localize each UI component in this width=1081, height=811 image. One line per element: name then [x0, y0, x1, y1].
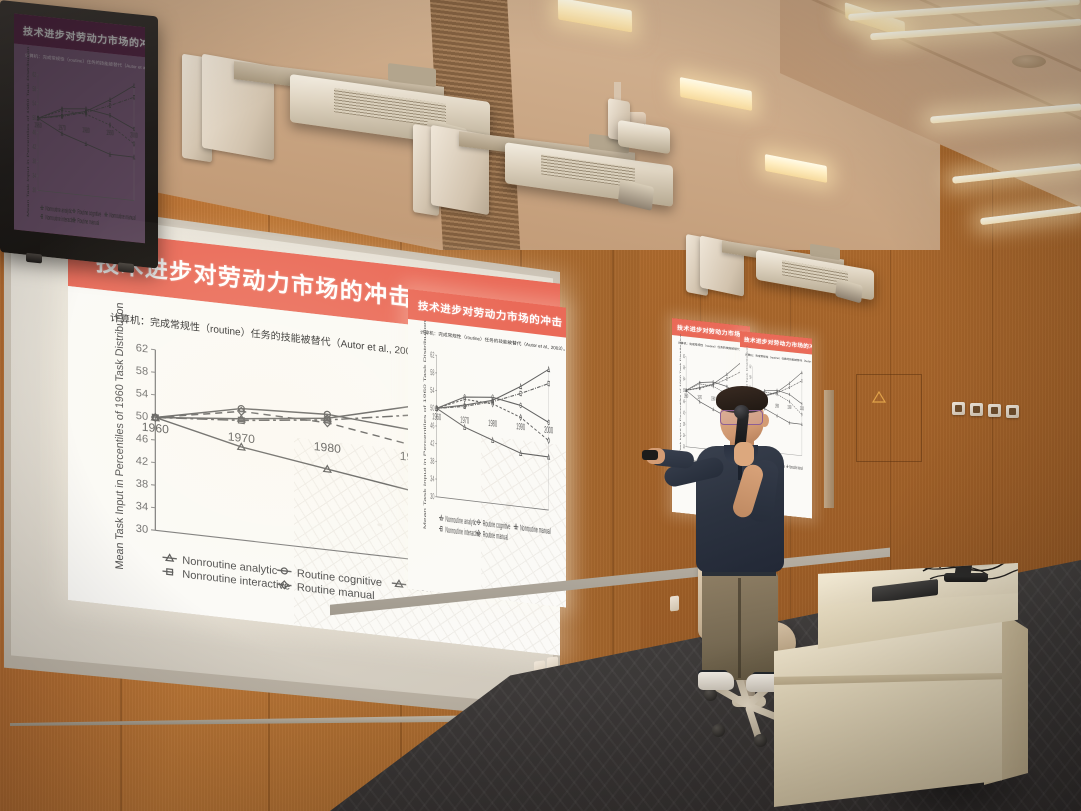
svg-text:30: 30 — [33, 187, 36, 195]
task-input-line-chart: 303438424650545862Mean Task Input in Per… — [22, 64, 142, 237]
slide-body: 计算机：完成常规性（routine）任务的技能被替代（Autor et al.,… — [14, 43, 145, 243]
trouser-seam — [738, 578, 741, 678]
svg-text:1980: 1980 — [82, 127, 90, 136]
svg-text:30: 30 — [136, 523, 148, 536]
svg-text:1960: 1960 — [142, 420, 169, 437]
svg-text:1960: 1960 — [432, 411, 441, 422]
flat-panel-screen[interactable]: 技术进步对劳动力市场的冲击 计算机：完成常规性（routine）任务的技能被替代… — [14, 13, 145, 243]
svg-text:38: 38 — [136, 478, 148, 491]
svg-text:Nonroutine manual: Nonroutine manual — [520, 524, 550, 537]
presenter-shoe — [698, 672, 734, 690]
svg-text:58: 58 — [749, 374, 751, 380]
projector-4 — [686, 228, 886, 328]
flat-panel-slide: 技术进步对劳动力市场的冲击 计算机：完成常规性（routine）任务的技能被替代… — [14, 13, 145, 243]
svg-text:58: 58 — [430, 368, 434, 378]
svg-text:58: 58 — [683, 364, 685, 371]
presenter-right-hand — [734, 442, 754, 466]
smoke-detector — [1012, 55, 1046, 68]
chair-caster — [712, 724, 725, 737]
svg-text:Nonroutine manual: Nonroutine manual — [110, 212, 136, 222]
svg-text:62: 62 — [430, 351, 434, 361]
wall-plate[interactable] — [970, 403, 983, 416]
svg-text:42: 42 — [430, 439, 434, 449]
svg-text:1960: 1960 — [34, 122, 42, 131]
flat-panel-foot — [118, 262, 134, 273]
lecture-room-photo: 技术进步对劳动力市场的冲击 计算机：完成常规性（routine）任务的技能被替代… — [0, 0, 1081, 811]
wall-plate[interactable] — [988, 404, 1001, 417]
svg-text:38: 38 — [430, 457, 434, 467]
svg-text:Mean Task Input in Percentiles: Mean Task Input in Percentiles of 1960 T… — [114, 302, 126, 570]
svg-text:54: 54 — [33, 100, 36, 108]
svg-text:2000: 2000 — [544, 425, 553, 436]
svg-text:1980: 1980 — [488, 418, 497, 429]
projector-3 — [608, 100, 728, 200]
wall-plate[interactable] — [952, 402, 965, 415]
svg-text:42: 42 — [33, 144, 36, 152]
svg-text:30: 30 — [430, 492, 434, 502]
wall-plate[interactable] — [1006, 405, 1019, 418]
svg-text:62: 62 — [683, 352, 685, 359]
svg-text:34: 34 — [136, 500, 148, 513]
presentation-clicker[interactable] — [642, 450, 658, 460]
slide-body: 计算机：完成常规性（routine）任务的技能被替代（Autor et al.,… — [408, 319, 566, 608]
svg-text:1990: 1990 — [516, 421, 525, 432]
svg-text:62: 62 — [136, 342, 148, 355]
projection-screen-2[interactable]: 技术进步对劳动力市场的冲击 计算机：完成常规性（routine）任务的技能被替代… — [408, 289, 566, 608]
svg-text:46: 46 — [33, 129, 36, 137]
svg-text:58: 58 — [33, 86, 36, 94]
svg-text:Routine manual: Routine manual — [78, 218, 100, 228]
microphone-head — [734, 405, 749, 419]
wall-access-panel — [856, 374, 922, 462]
svg-text:Mean Task Input in Percentiles: Mean Task Input in Percentiles of 1960 T… — [423, 320, 427, 530]
flat-panel-foot — [26, 253, 42, 264]
svg-text:62: 62 — [749, 364, 751, 370]
projector-body — [618, 120, 670, 154]
interactive-flat-panel[interactable]: 技术进步对劳动力市场的冲击 计算机：完成常规性（routine）任务的技能被替代… — [0, 0, 158, 269]
ceiling-light — [980, 206, 1081, 225]
svg-text:54: 54 — [683, 375, 685, 382]
svg-text:Nonroutine interactive: Nonroutine interactive — [445, 526, 480, 539]
svg-text:34: 34 — [33, 172, 36, 180]
svg-text:34: 34 — [430, 475, 434, 485]
svg-text:54: 54 — [136, 387, 148, 400]
svg-text:62: 62 — [33, 71, 36, 79]
svg-text:58: 58 — [136, 365, 148, 378]
lectern-lower-body — [774, 617, 1002, 807]
door-frame — [824, 390, 834, 508]
svg-text:1980: 1980 — [314, 439, 341, 456]
svg-text:38: 38 — [33, 158, 36, 166]
svg-text:Routine manual: Routine manual — [483, 530, 508, 542]
svg-text:54: 54 — [430, 386, 434, 396]
task-input-line-chart: 303438424650545862Mean Task Input in Per… — [418, 342, 558, 555]
svg-text:Mean Task Input in Percentiles: Mean Task Input in Percentiles of 1960 T… — [27, 46, 30, 217]
svg-text:2000: 2000 — [130, 132, 138, 141]
chair-caster — [754, 734, 767, 747]
svg-text:46: 46 — [136, 432, 148, 445]
svg-text:42: 42 — [136, 455, 148, 468]
svg-text:46: 46 — [430, 422, 434, 432]
lectern[interactable] — [772, 545, 1032, 811]
svg-text:1990: 1990 — [106, 130, 114, 139]
hazard-warning-icon — [872, 390, 886, 402]
